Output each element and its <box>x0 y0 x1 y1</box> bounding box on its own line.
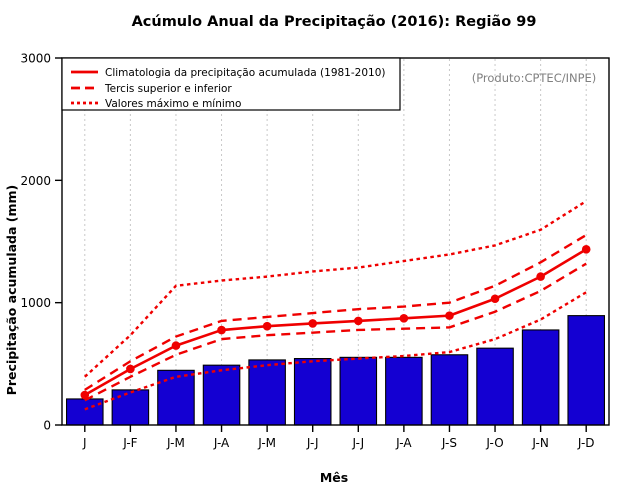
bar-j-j <box>294 359 330 425</box>
x-tick-label: J-F <box>122 436 137 450</box>
y-tick-label: 1000 <box>20 296 51 310</box>
chart-title: Acúmulo Anual da Precipitação (2016): Re… <box>132 14 537 30</box>
bar-j-m <box>249 360 285 425</box>
bar-series <box>67 316 605 425</box>
climatology-marker <box>354 317 363 326</box>
y-tick-label: 0 <box>43 419 51 433</box>
climatology-marker <box>217 326 226 335</box>
bar-j-o <box>477 348 513 425</box>
product-credit: (Produto:CPTEC/INPE) <box>472 71 597 85</box>
x-tick-label: J-O <box>485 436 503 450</box>
bar-j-n <box>522 330 558 425</box>
x-tick-label: J-N <box>531 436 548 450</box>
climatology-marker <box>263 322 272 331</box>
chart-legend: Climatologia da precipitação acumulada (… <box>62 58 400 110</box>
legend-label-extremes: Valores máximo e mínimo <box>105 98 241 110</box>
precipitation-chart: Acúmulo Anual da Precipitação (2016): Re… <box>0 0 640 500</box>
y-tick-label: 3000 <box>20 52 51 66</box>
x-tick-label: J-J <box>351 436 364 450</box>
bar-j-m <box>158 370 194 425</box>
climatology-marker <box>400 314 409 323</box>
legend-label-climatology: Climatologia da precipitação acumulada (… <box>105 67 385 79</box>
y-axis-title: Precipitação acumulada (mm) <box>4 185 19 396</box>
x-tick-label: J-D <box>577 436 595 450</box>
climatology-marker <box>172 341 181 350</box>
bar-j-d <box>568 316 604 425</box>
bar-j-a <box>386 357 422 425</box>
climatology-marker <box>126 365 135 374</box>
chart-canvas: Acúmulo Anual da Precipitação (2016): Re… <box>0 0 640 500</box>
bar-j-a <box>203 365 239 425</box>
climatology-marker <box>80 391 89 400</box>
bar-j-s <box>431 355 467 425</box>
x-axis-title: Mês <box>320 470 348 485</box>
x-tick-label: J-M <box>166 436 185 450</box>
climatology-marker <box>491 294 500 303</box>
bar-j <box>67 399 103 425</box>
climatology-marker <box>445 311 454 320</box>
climatology-marker <box>582 245 591 254</box>
x-tick-label: J-A <box>213 436 230 450</box>
x-tick-label: J-J <box>306 436 319 450</box>
x-axis-ticks: JJ-FJ-MJ-AJ-MJ-JJ-JJ-AJ-SJ-OJ-NJ-D <box>82 425 595 450</box>
x-tick-label: J-M <box>257 436 276 450</box>
legend-label-tercis: Tercis superior e inferior <box>104 83 232 95</box>
x-tick-label: J-A <box>395 436 412 450</box>
y-tick-label: 2000 <box>20 174 51 188</box>
x-tick-label: J <box>82 436 87 450</box>
x-tick-label: J-S <box>441 436 457 450</box>
bar-j-f <box>112 390 148 425</box>
climatology-marker <box>536 272 545 281</box>
y-axis-ticks: 0100020003000 <box>20 52 62 433</box>
climatology-marker <box>308 319 317 328</box>
bar-j-j <box>340 357 376 425</box>
